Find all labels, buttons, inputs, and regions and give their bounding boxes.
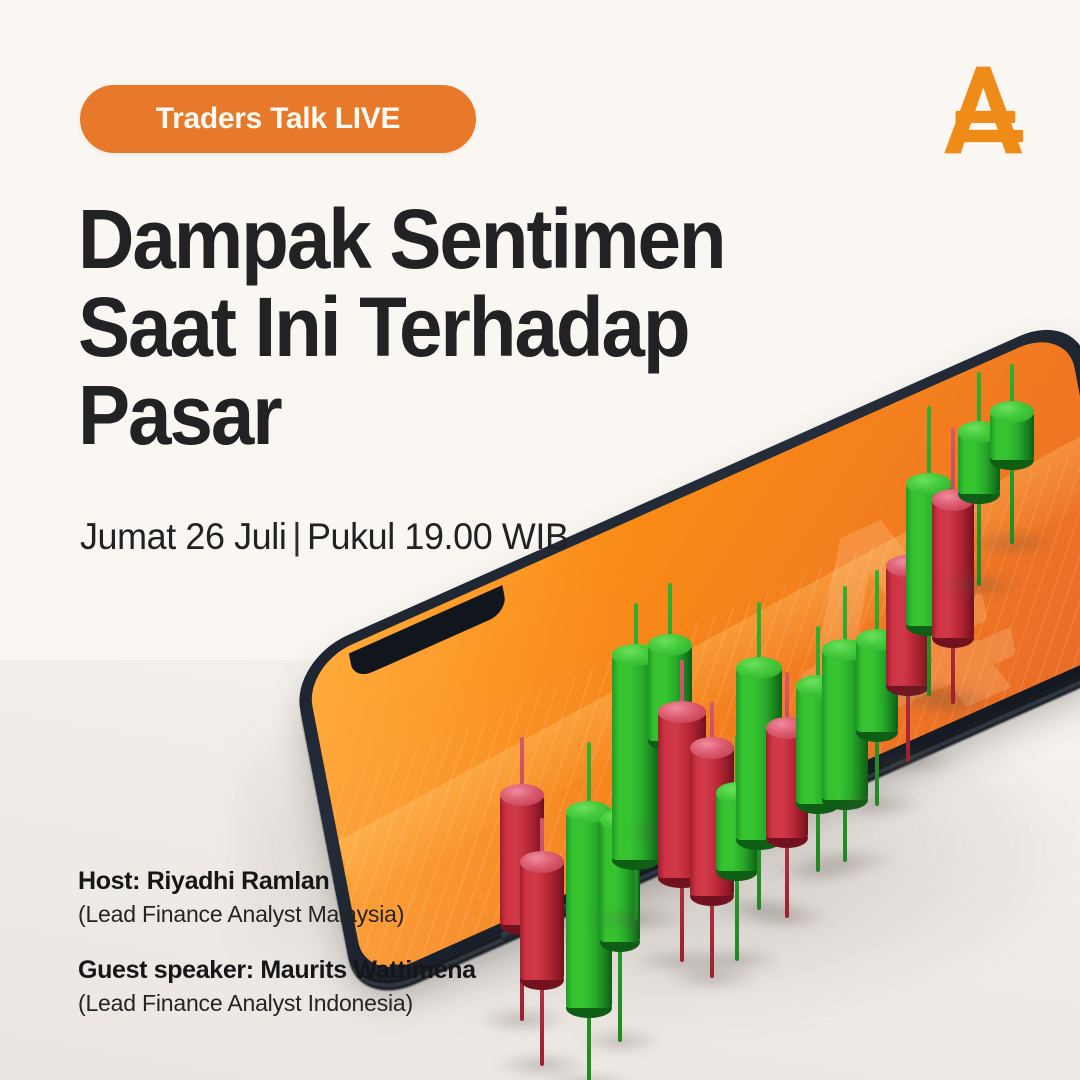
candle-cylinder [520, 862, 564, 980]
poster-canvas: Traders Talk LIVE Dampak Sentimen Saat I… [0, 0, 1080, 1080]
candle-19 [990, 364, 1034, 544]
candle-body [990, 412, 1034, 460]
speaker-name: Guest speaker: Maurits Wattimena [78, 955, 476, 986]
speaker-role: (Lead Finance Analyst Malaysia) [78, 900, 476, 930]
candle-cap [648, 634, 692, 656]
candle-cap [520, 851, 564, 873]
candle-2 [520, 818, 564, 1066]
speaker-list: Host: Riyadhi Ramlan (Lead Finance Analy… [78, 866, 476, 1019]
candle-cap [990, 401, 1034, 423]
candle-body [520, 862, 564, 980]
candle-cap [500, 784, 544, 806]
speaker-guest: Guest speaker: Maurits Wattimena (Lead F… [78, 955, 476, 1019]
speaker-role: (Lead Finance Analyst Indonesia) [78, 989, 476, 1019]
speaker-host: Host: Riyadhi Ramlan (Lead Finance Analy… [78, 866, 476, 930]
speaker-name: Host: Riyadhi Ramlan [78, 866, 476, 897]
